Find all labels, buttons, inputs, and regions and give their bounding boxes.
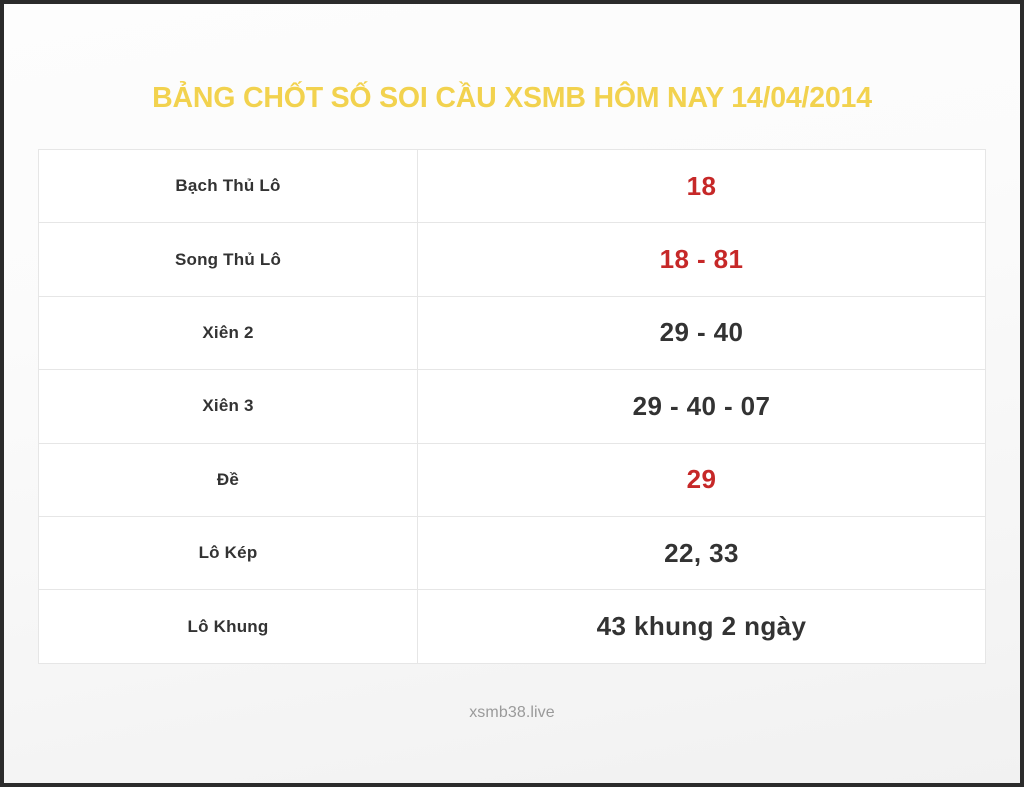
- table-row: Lô Khung 43 khung 2 ngày: [39, 590, 985, 663]
- page-frame: BẢNG CHỐT SỐ SOI CẦU XSMB HÔM NAY 14/04/…: [4, 4, 1020, 783]
- row-value: 29 - 40 - 07: [418, 370, 985, 442]
- page-title: BẢNG CHỐT SỐ SOI CẦU XSMB HÔM NAY 14/04/…: [4, 82, 1020, 115]
- row-value: 18 - 81: [418, 223, 985, 295]
- table-row: Xiên 3 29 - 40 - 07: [39, 370, 985, 443]
- row-label: Xiên 3: [39, 370, 418, 442]
- table-row: Xiên 2 29 - 40: [39, 297, 985, 370]
- row-label: Bạch Thủ Lô: [39, 150, 418, 222]
- row-label: Lô Khung: [39, 590, 418, 662]
- row-value: 29: [418, 444, 985, 516]
- row-label: Lô Kép: [39, 517, 418, 589]
- row-label: Song Thủ Lô: [39, 223, 418, 295]
- row-value: 18: [418, 150, 985, 222]
- table-row: Đề 29: [39, 444, 985, 517]
- row-label: Đề: [39, 444, 418, 516]
- table-row: Bạch Thủ Lô 18: [39, 150, 985, 223]
- prediction-table: Bạch Thủ Lô 18 Song Thủ Lô 18 - 81 Xiên …: [38, 149, 986, 664]
- row-value: 29 - 40: [418, 297, 985, 369]
- row-value: 43 khung 2 ngày: [418, 590, 985, 662]
- site-watermark: xsmb38.live: [4, 704, 1020, 722]
- table-row: Song Thủ Lô 18 - 81: [39, 223, 985, 296]
- row-label: Xiên 2: [39, 297, 418, 369]
- row-value: 22, 33: [418, 517, 985, 589]
- table-row: Lô Kép 22, 33: [39, 517, 985, 590]
